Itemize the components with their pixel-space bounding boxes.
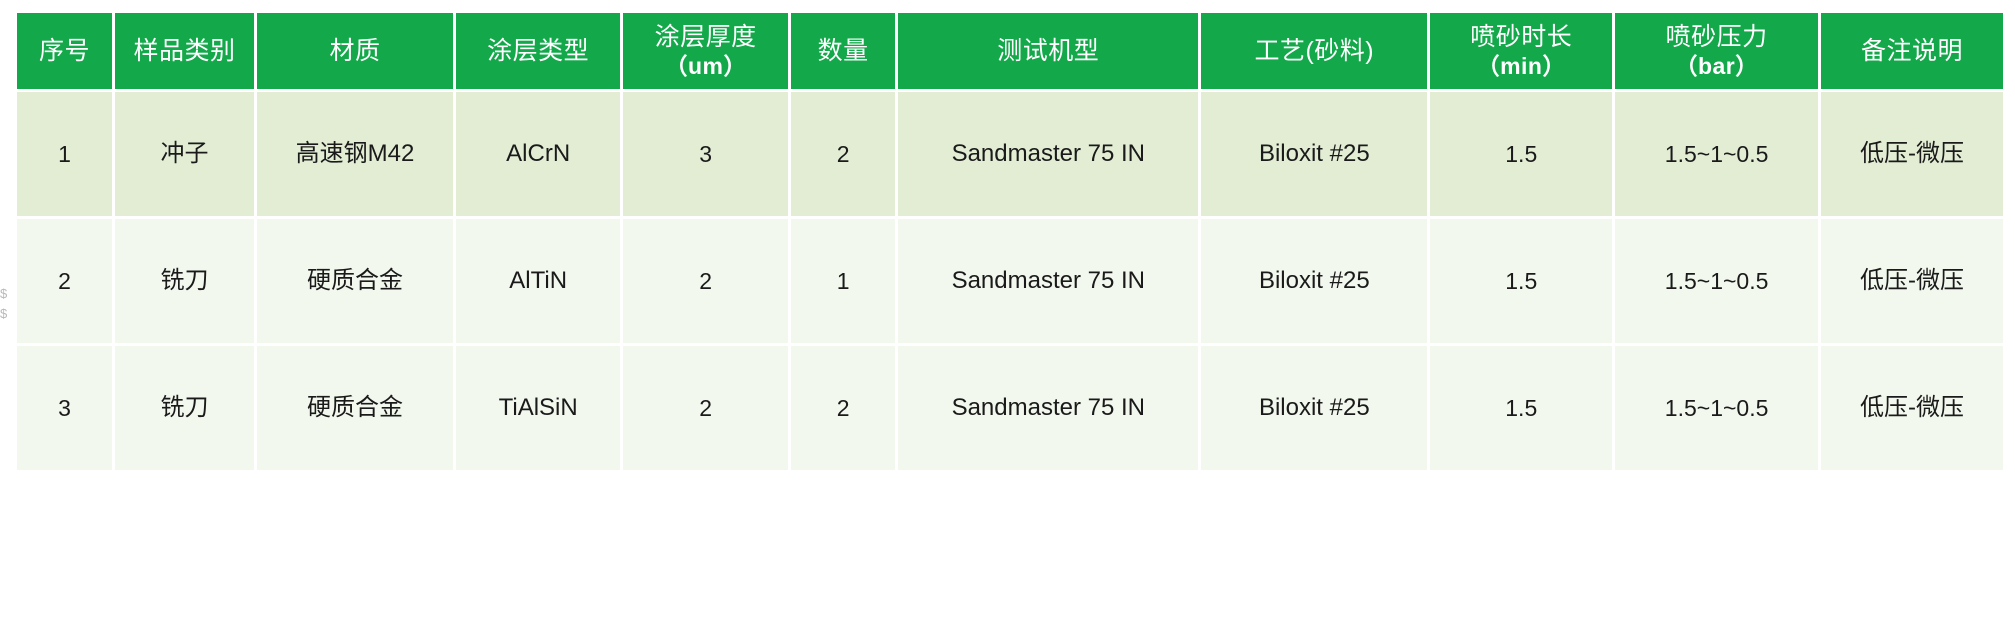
cell-coating[interactable]: AlTiN: [456, 219, 621, 343]
table-header: 序号 样品类别 材质 涂层类型 涂层厚度 （um） 数量: [17, 13, 2003, 89]
cell-remark[interactable]: 低压-微压: [1821, 92, 2003, 216]
table-row[interactable]: 1 冲子 高速钢M42 AlCrN 3 2 Sandmaster 75 IN B…: [17, 92, 2003, 216]
sample-test-plan-table: 序号 样品类别 材质 涂层类型 涂层厚度 （um） 数量: [14, 10, 2006, 473]
header-label-material: 材质: [329, 37, 380, 65]
cell-blast-time[interactable]: 1.5: [1430, 92, 1612, 216]
cell-machine[interactable]: Sandmaster 75 IN: [898, 92, 1198, 216]
cell-category[interactable]: 铣刀: [115, 346, 254, 470]
cell-material[interactable]: 高速钢M42: [257, 92, 453, 216]
cell-material[interactable]: 硬质合金: [257, 346, 453, 470]
column-header-blast-time[interactable]: 喷砂时长 （min）: [1430, 13, 1612, 89]
column-header-coating[interactable]: 涂层类型: [456, 13, 621, 89]
left-gutter: $ $: [0, 0, 14, 637]
column-header-blast-pressure[interactable]: 喷砂压力 （bar）: [1615, 13, 1818, 89]
cell-process[interactable]: Biloxit #25: [1201, 92, 1427, 216]
column-header-thickness[interactable]: 涂层厚度 （um）: [623, 13, 788, 89]
column-header-process[interactable]: 工艺(砂料): [1201, 13, 1427, 89]
header-label-category: 样品类别: [134, 37, 236, 65]
cell-quantity[interactable]: 2: [791, 92, 895, 216]
cell-machine[interactable]: Sandmaster 75 IN: [898, 219, 1198, 343]
cell-quantity[interactable]: 1: [791, 219, 895, 343]
header-label-remark: 备注说明: [1861, 37, 1963, 65]
header-label-blast-time: 喷砂时长: [1470, 23, 1572, 51]
header-label-quantity: 数量: [818, 37, 869, 65]
cell-process[interactable]: Biloxit #25: [1201, 346, 1427, 470]
header-label-coating: 涂层类型: [487, 37, 589, 65]
column-header-remark[interactable]: 备注说明: [1821, 13, 2003, 89]
cell-category[interactable]: 铣刀: [115, 219, 254, 343]
cell-thickness[interactable]: 2: [623, 219, 788, 343]
cell-blast-pressure[interactable]: 1.5~1~0.5: [1615, 92, 1818, 216]
cell-blast-pressure[interactable]: 1.5~1~0.5: [1615, 219, 1818, 343]
header-unit-thickness: （um）: [623, 52, 788, 81]
cell-coating[interactable]: TiAlSiN: [456, 346, 621, 470]
cell-quantity[interactable]: 2: [791, 346, 895, 470]
column-header-seq[interactable]: 序号: [17, 13, 112, 89]
gutter-mark-1: $: [0, 288, 12, 300]
cell-blast-time[interactable]: 1.5: [1430, 219, 1612, 343]
header-row: 序号 样品类别 材质 涂层类型 涂层厚度 （um） 数量: [17, 13, 2003, 89]
header-unit-blast-pressure: （bar）: [1615, 52, 1818, 81]
table-row[interactable]: 3 铣刀 硬质合金 TiAlSiN 2 2 Sandmaster 75 IN B…: [17, 346, 2003, 470]
cell-blast-time[interactable]: 1.5: [1430, 346, 1612, 470]
cell-seq[interactable]: 3: [17, 346, 112, 470]
header-label-seq: 序号: [39, 37, 90, 65]
table-row[interactable]: 2 铣刀 硬质合金 AlTiN 2 1 Sandmaster 75 IN Bil…: [17, 219, 2003, 343]
header-label-thickness: 涂层厚度: [655, 23, 757, 51]
gutter-mark-2: $: [0, 308, 12, 320]
cell-remark[interactable]: 低压-微压: [1821, 219, 2003, 343]
cell-blast-pressure[interactable]: 1.5~1~0.5: [1615, 346, 1818, 470]
column-header-machine[interactable]: 测试机型: [898, 13, 1198, 89]
cell-category[interactable]: 冲子: [115, 92, 254, 216]
cell-seq[interactable]: 2: [17, 219, 112, 343]
header-label-blast-pressure: 喷砂压力: [1666, 23, 1768, 51]
header-label-process: 工艺(砂料): [1254, 37, 1374, 65]
cell-material[interactable]: 硬质合金: [257, 219, 453, 343]
column-header-quantity[interactable]: 数量: [791, 13, 895, 89]
header-unit-blast-time: （min）: [1430, 52, 1612, 81]
table-body: 1 冲子 高速钢M42 AlCrN 3 2 Sandmaster 75 IN B…: [17, 92, 2003, 470]
cell-thickness[interactable]: 2: [623, 346, 788, 470]
column-header-material[interactable]: 材质: [257, 13, 453, 89]
spreadsheet-canvas: $ $ 序号 样品类别 材质: [0, 0, 2015, 637]
cell-machine[interactable]: Sandmaster 75 IN: [898, 346, 1198, 470]
cell-seq[interactable]: 1: [17, 92, 112, 216]
column-header-category[interactable]: 样品类别: [115, 13, 254, 89]
header-label-machine: 测试机型: [997, 37, 1099, 65]
cell-remark[interactable]: 低压-微压: [1821, 346, 2003, 470]
cell-coating[interactable]: AlCrN: [456, 92, 621, 216]
cell-process[interactable]: Biloxit #25: [1201, 219, 1427, 343]
cell-thickness[interactable]: 3: [623, 92, 788, 216]
